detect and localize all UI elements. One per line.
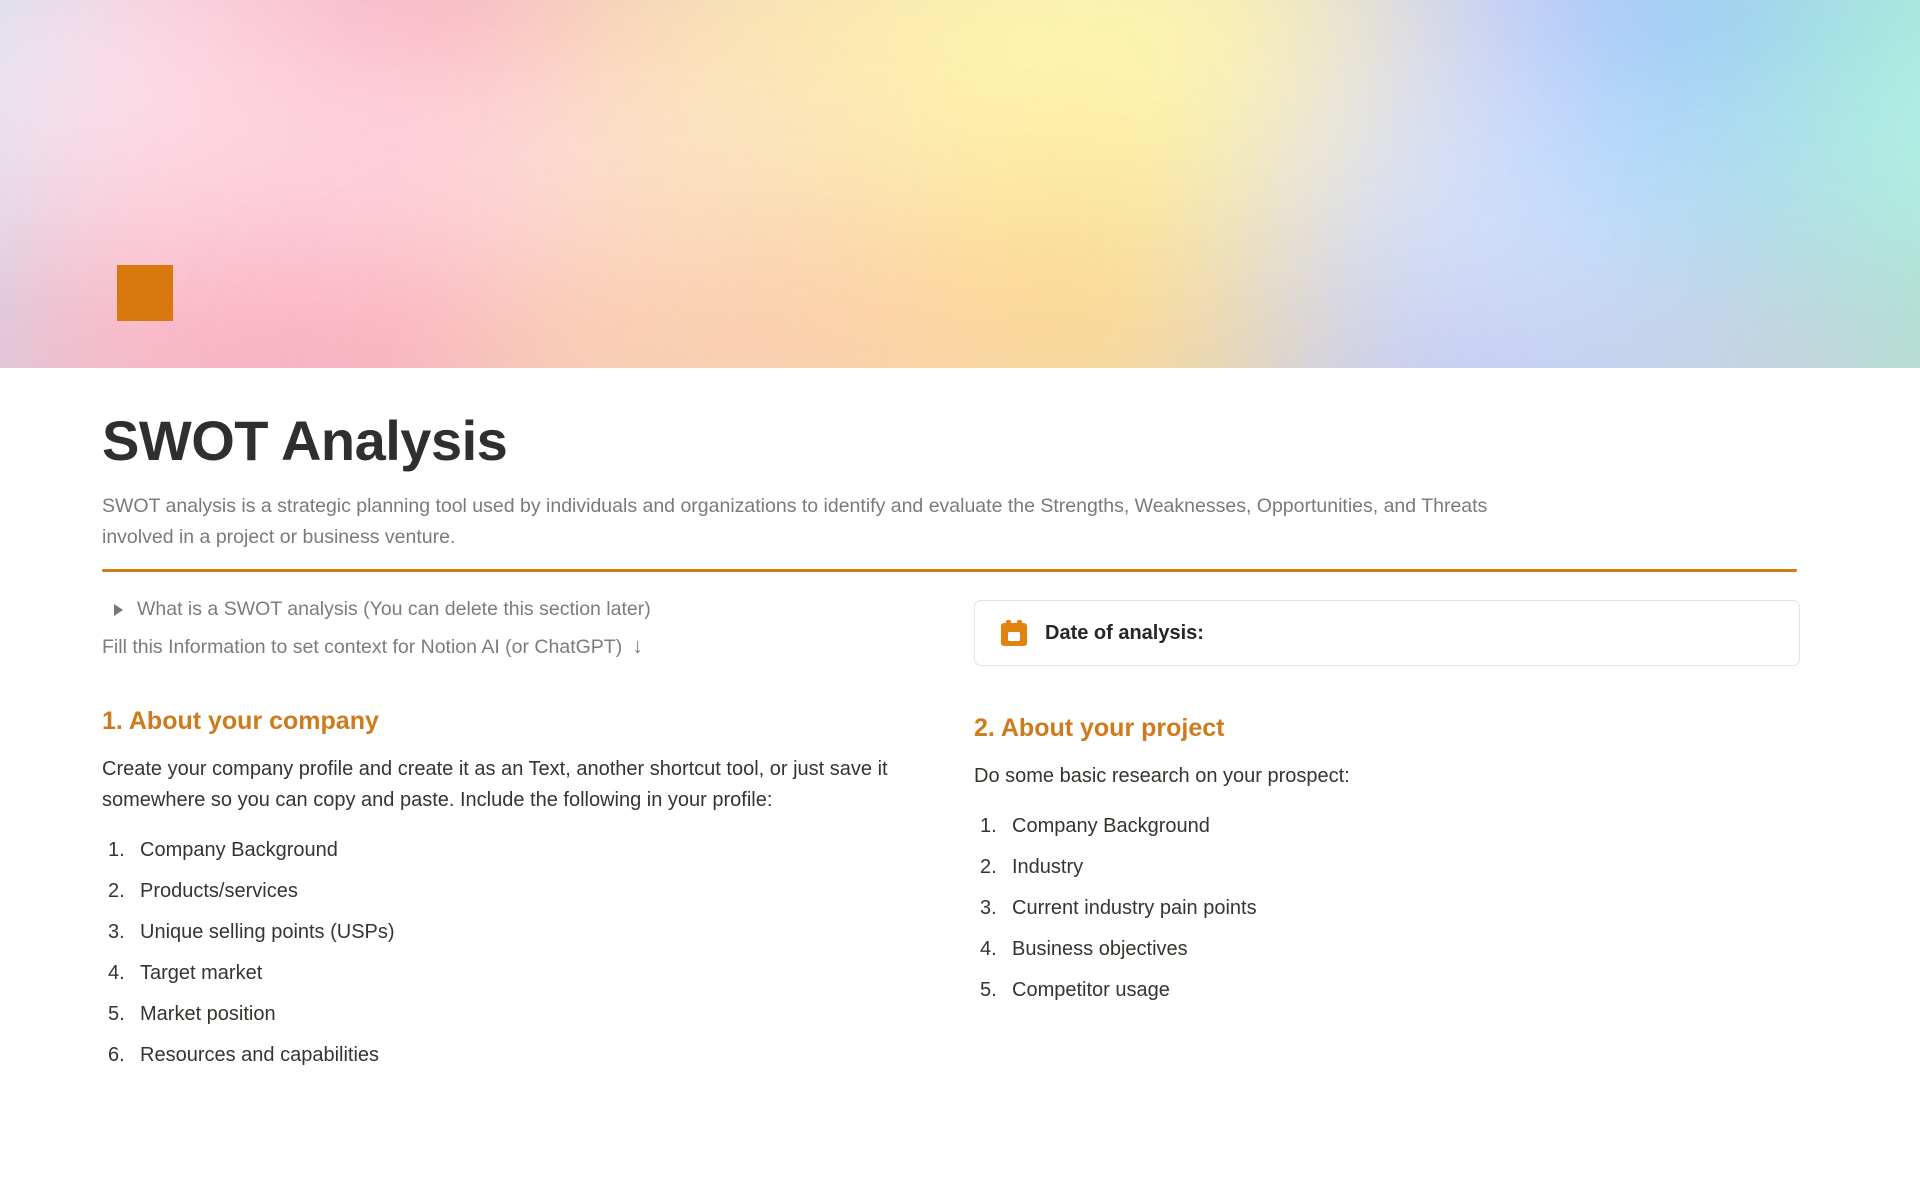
orange-divider [102,569,1797,572]
calendar-icon [1001,620,1027,646]
toggle-label: What is a SWOT analysis (You can delete … [137,598,651,621]
page-content: SWOT Analysis SWOT analysis is a strateg… [0,408,1920,1076]
list-item[interactable]: Market position [102,994,928,1035]
section-2-heading[interactable]: 2. About your project [974,714,1800,743]
cover-gradient-lower [0,0,1920,368]
list-item[interactable]: Company Background [974,806,1800,847]
page-icon[interactable] [117,265,173,321]
page-title[interactable]: SWOT Analysis [102,408,1800,473]
right-column: Date of analysis: 2. About your project … [974,592,1800,1076]
list-item[interactable]: Industry [974,847,1800,888]
list-item[interactable]: Business objectives [974,929,1800,970]
section-1-list: Company Background Products/services Uni… [102,830,928,1076]
section-1-body[interactable]: Create your company profile and create i… [102,754,928,816]
section-1-heading[interactable]: 1. About your company [102,707,928,736]
cover-banner[interactable] [0,0,1920,368]
fill-info-note[interactable]: Fill this Information to set context for… [102,627,928,659]
left-column: What is a SWOT analysis (You can delete … [102,592,928,1076]
list-item[interactable]: Target market [102,953,928,994]
list-item[interactable]: Resources and capabilities [102,1035,928,1076]
section-2-body[interactable]: Do some basic research on your prospect: [974,761,1800,792]
list-item[interactable]: Company Background [102,830,928,871]
section-2-list: Company Background Industry Current indu… [974,806,1800,1011]
list-item[interactable]: Competitor usage [974,970,1800,1011]
date-of-analysis-label: Date of analysis: [1045,622,1204,645]
list-item[interactable]: Products/services [102,871,928,912]
two-column-layout: What is a SWOT analysis (You can delete … [102,592,1800,1076]
page-description[interactable]: SWOT analysis is a strategic planning to… [102,491,1502,553]
date-of-analysis-callout[interactable]: Date of analysis: [974,600,1800,666]
fill-info-text: Fill this Information to set context for… [102,636,622,659]
list-item[interactable]: Current industry pain points [974,888,1800,929]
triangle-right-icon[interactable] [114,604,123,616]
toggle-what-is-swot[interactable]: What is a SWOT analysis (You can delete … [102,592,928,627]
arrow-down-icon: ↓ [632,635,643,659]
list-item[interactable]: Unique selling points (USPs) [102,912,928,953]
